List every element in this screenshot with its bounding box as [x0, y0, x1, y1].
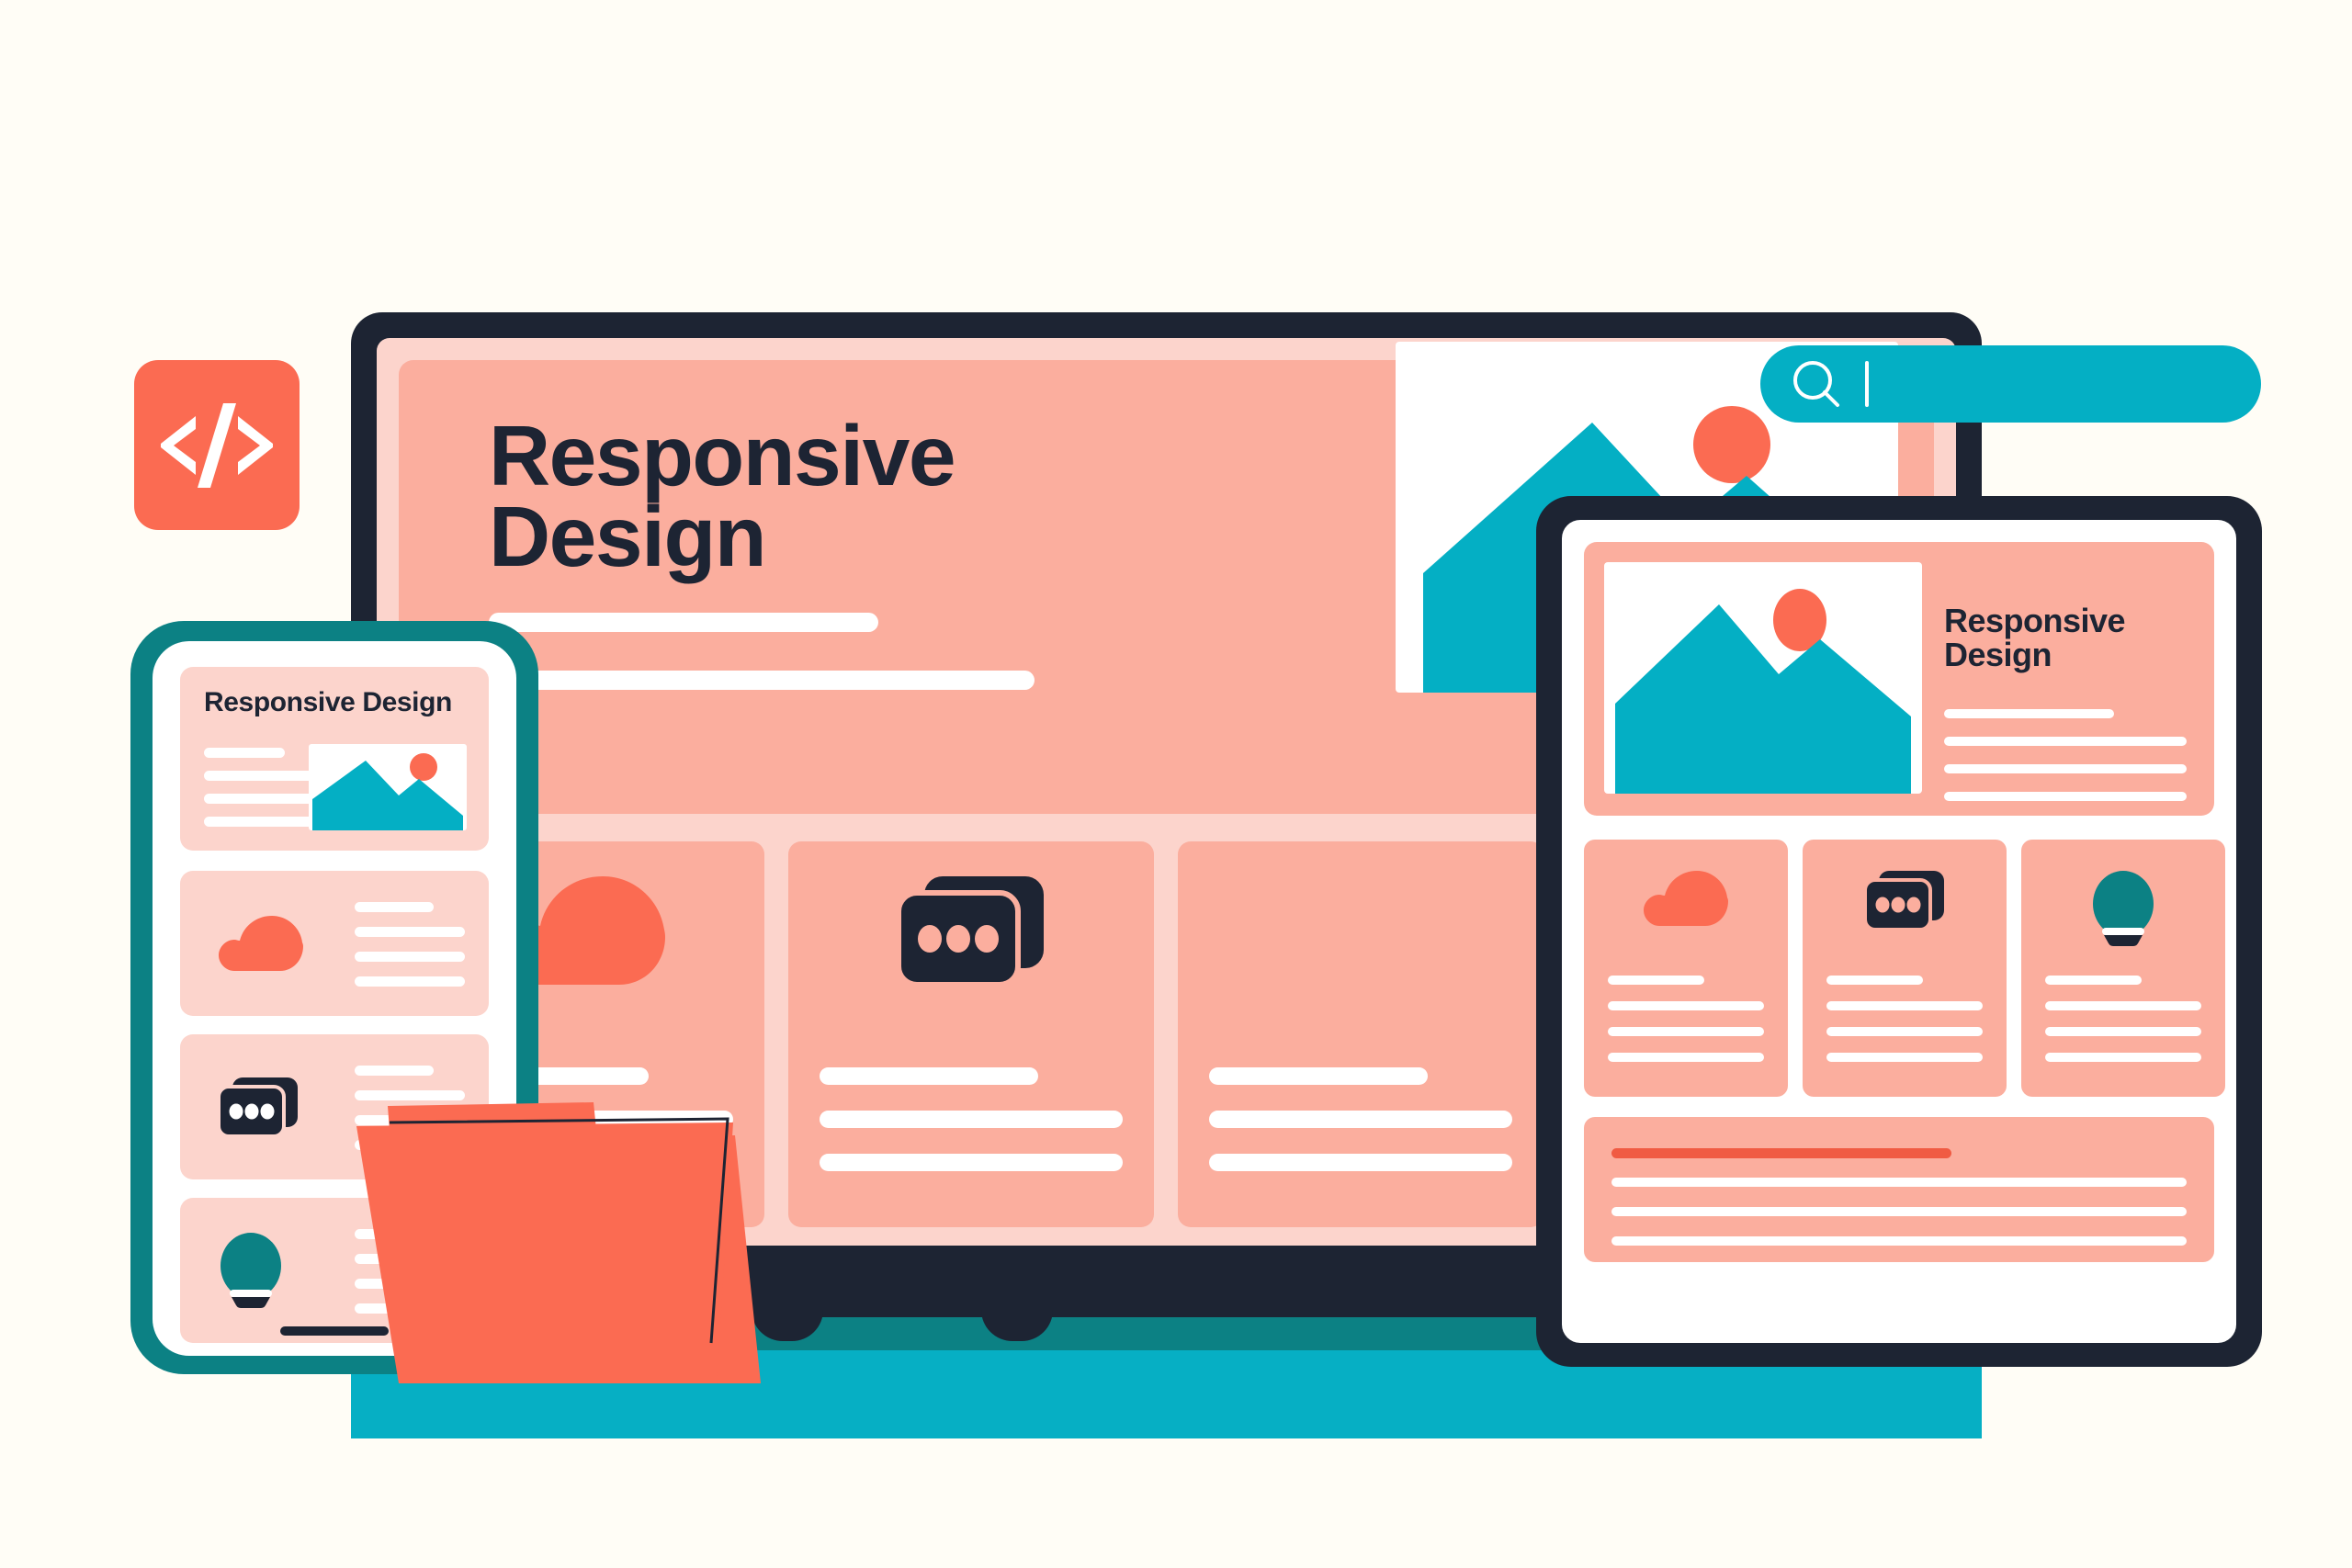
code-badge[interactable]	[134, 360, 300, 530]
text-line	[820, 1067, 1038, 1085]
tablet-column[interactable]	[2021, 840, 2225, 1097]
tablet-column[interactable]	[1584, 840, 1788, 1097]
folder-icon[interactable]	[356, 1089, 761, 1383]
code-icon	[161, 401, 273, 490]
text-line	[2045, 1053, 2201, 1062]
tablet-hero-panel: Responsive Design	[1584, 542, 2214, 816]
page-title: Responsive Design	[489, 415, 955, 578]
text-line	[1944, 792, 2187, 801]
illustration-canvas: Responsive Design	[0, 0, 2352, 1568]
chat-icon	[899, 876, 1044, 985]
text-line	[820, 1154, 1123, 1171]
monitor-column	[788, 841, 1154, 1227]
text-line	[1608, 1027, 1764, 1036]
text-block	[2045, 976, 2201, 1078]
text-line	[1611, 1178, 2187, 1187]
mountain-image-icon	[309, 744, 467, 830]
text-line	[1944, 737, 2187, 746]
mountain-image-icon	[1604, 562, 1922, 794]
text-line	[1944, 764, 2187, 773]
bulb-icon	[2091, 871, 2155, 946]
chat-icon	[1865, 871, 1944, 930]
text-line	[1611, 1236, 2187, 1246]
text-line	[355, 927, 465, 937]
text-line	[1608, 1001, 1764, 1010]
text-line	[355, 952, 465, 962]
text-line	[355, 1066, 434, 1076]
text-line	[1826, 1053, 1983, 1062]
text-block	[1944, 709, 2187, 819]
text-line	[1826, 1001, 1983, 1010]
tablet-column[interactable]	[1803, 840, 2007, 1097]
text-line	[204, 748, 285, 758]
tablet-screen: Responsive Design	[1562, 520, 2236, 1343]
text-line	[1209, 1111, 1512, 1128]
text-line	[2045, 1001, 2201, 1010]
text-line	[489, 613, 878, 632]
thumbnail-image	[309, 744, 467, 830]
text-line	[2045, 976, 2142, 985]
text-line	[2045, 1027, 2201, 1036]
text-line	[1209, 1067, 1428, 1085]
text-line	[1209, 1154, 1512, 1171]
text-line	[1611, 1207, 2187, 1216]
cloud-icon	[1644, 871, 1728, 926]
monitor-column	[1178, 841, 1543, 1227]
text-line	[1826, 1027, 1983, 1036]
search-icon	[1792, 359, 1841, 409]
text-cursor	[1865, 361, 1869, 407]
cloud-icon	[219, 916, 303, 971]
text-line	[1826, 976, 1923, 985]
text-line	[1608, 976, 1704, 985]
phone-header-card: Responsive Design	[180, 667, 489, 851]
text-line	[355, 902, 434, 912]
text-line	[1944, 709, 2114, 718]
text-block	[1826, 976, 1983, 1078]
accent-bar	[1611, 1148, 1951, 1158]
text-line	[1608, 1053, 1764, 1062]
chat-icon	[219, 1077, 298, 1136]
tablet-device: Responsive Design	[1536, 496, 2262, 1367]
text-line	[489, 671, 1035, 690]
text-block	[1608, 976, 1764, 1078]
text-line	[820, 1111, 1123, 1128]
text-block	[355, 902, 465, 1001]
text-block	[1209, 1067, 1512, 1197]
list-item[interactable]	[180, 871, 489, 1016]
hero-image-card	[1604, 562, 1922, 794]
search-input[interactable]	[1760, 345, 2261, 423]
text-block	[1611, 1178, 2187, 1266]
text-line	[355, 976, 465, 987]
text-block	[820, 1067, 1123, 1197]
page-title: Responsive Design	[1944, 604, 2125, 671]
bulb-icon	[219, 1233, 283, 1308]
tablet-footer-panel	[1584, 1117, 2214, 1262]
page-title: Responsive Design	[204, 687, 452, 718]
